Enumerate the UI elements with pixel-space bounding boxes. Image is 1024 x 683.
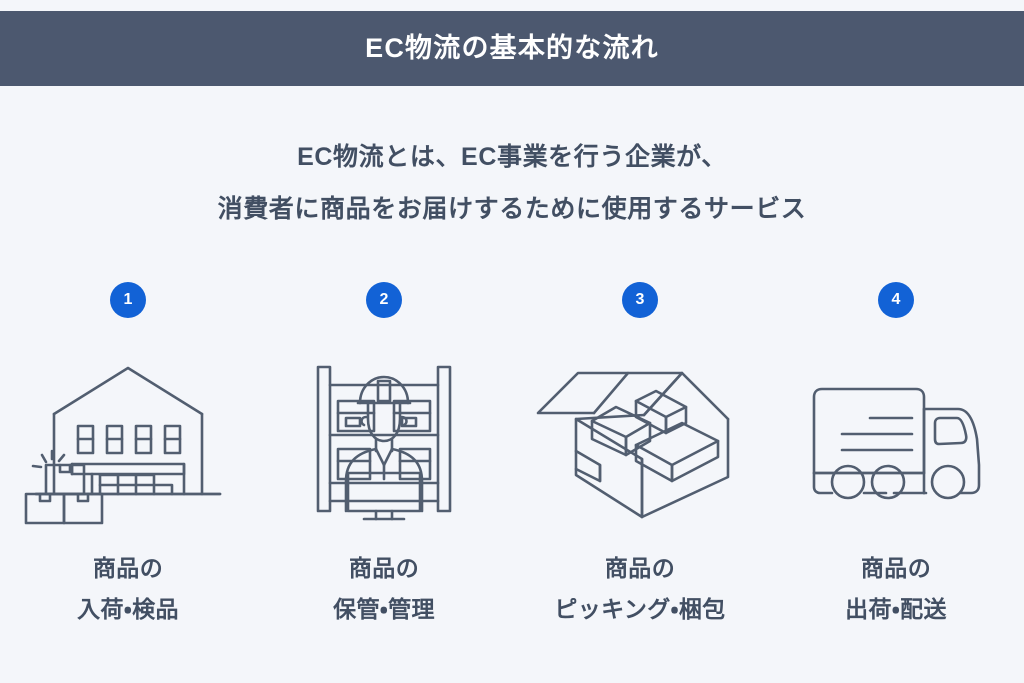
subtitle-line-2: 消費者に商品をお届けするために使用するサービス: [0, 183, 1024, 235]
step-caption-4: 商品の 出荷・配送: [845, 548, 947, 630]
step-number-badge-4: 4: [878, 282, 914, 318]
step-3: 3: [512, 282, 768, 630]
caption-line-2a: 商品の: [333, 548, 435, 589]
step-2: 2: [256, 282, 512, 630]
step-number-badge-2: 2: [366, 282, 402, 318]
caption-line-2b: 保管・管理: [333, 589, 435, 630]
step-number-badge-3: 3: [622, 282, 658, 318]
subtitle-line-1: EC物流とは、EC事業を行う企業が、: [0, 131, 1024, 183]
caption-line-3b: ピッキング・梱包: [554, 589, 725, 630]
step-number-badge-1: 1: [110, 282, 146, 318]
steps-row: 1: [0, 282, 1024, 654]
caption-line-1b: 入荷・検品: [77, 589, 179, 630]
open-box-packing-icon: [532, 356, 748, 528]
step-4: 4: [768, 282, 1024, 630]
step-caption-3: 商品の ピッキング・梱包: [554, 548, 725, 630]
warehouse-worker-shelving-icon: [304, 356, 464, 528]
subtitle-block: EC物流とは、EC事業を行う企業が、 消費者に商品をお届けするために使用するサー…: [0, 131, 1024, 235]
caption-line-3a: 商品の: [554, 548, 725, 589]
caption-line-4b: 出荷・配送: [845, 589, 947, 630]
page-title: EC物流の基本的な流れ: [365, 35, 659, 62]
step-caption-1: 商品の 入荷・検品: [77, 548, 179, 630]
caption-line-4a: 商品の: [845, 548, 947, 589]
warehouse-icon: [28, 356, 228, 528]
step-caption-2: 商品の 保管・管理: [333, 548, 435, 630]
infographic-page: EC物流の基本的な流れ EC物流とは、EC事業を行う企業が、 消費者に商品をお届…: [0, 0, 1024, 683]
caption-line-1a: 商品の: [77, 548, 179, 589]
delivery-truck-icon: [808, 356, 984, 528]
step-1: 1: [0, 282, 256, 630]
header-bar: EC物流の基本的な流れ: [0, 11, 1024, 86]
